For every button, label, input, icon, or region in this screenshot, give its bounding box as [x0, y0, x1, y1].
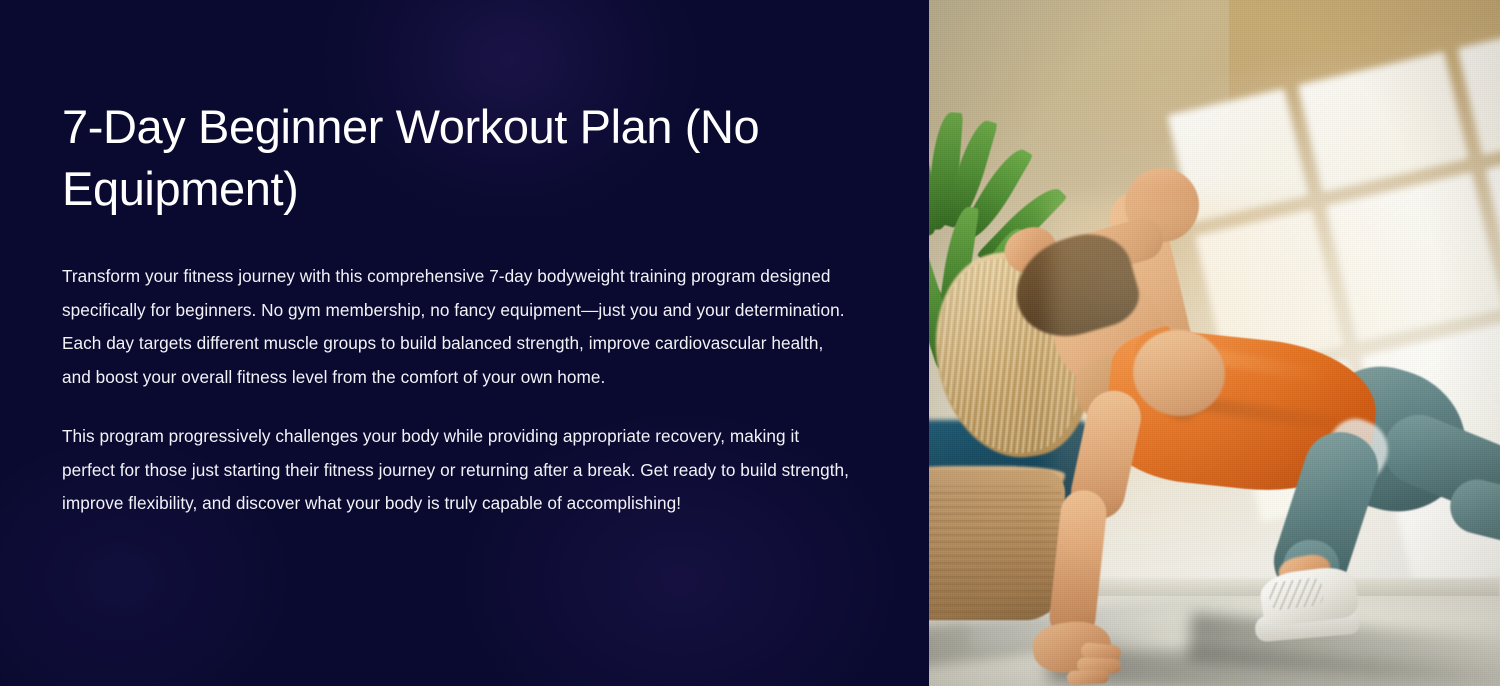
hero-photo: [929, 0, 1500, 686]
finger: [1067, 669, 1110, 685]
hero-text-panel: 7-Day Beginner Workout Plan (No Equipmen…: [0, 0, 929, 686]
support-arm-forearm: [1047, 488, 1108, 642]
hero-section: 7-Day Beginner Workout Plan (No Equipmen…: [0, 0, 1500, 686]
hero-paragraph-1: Transform your fitness journey with this…: [62, 260, 852, 394]
hero-text-content: 7-Day Beginner Workout Plan (No Equipmen…: [0, 0, 929, 686]
exercising-figure: [929, 0, 1500, 686]
hero-paragraph-2: This program progressively challenges yo…: [62, 420, 852, 521]
page-title: 7-Day Beginner Workout Plan (No Equipmen…: [62, 96, 822, 220]
